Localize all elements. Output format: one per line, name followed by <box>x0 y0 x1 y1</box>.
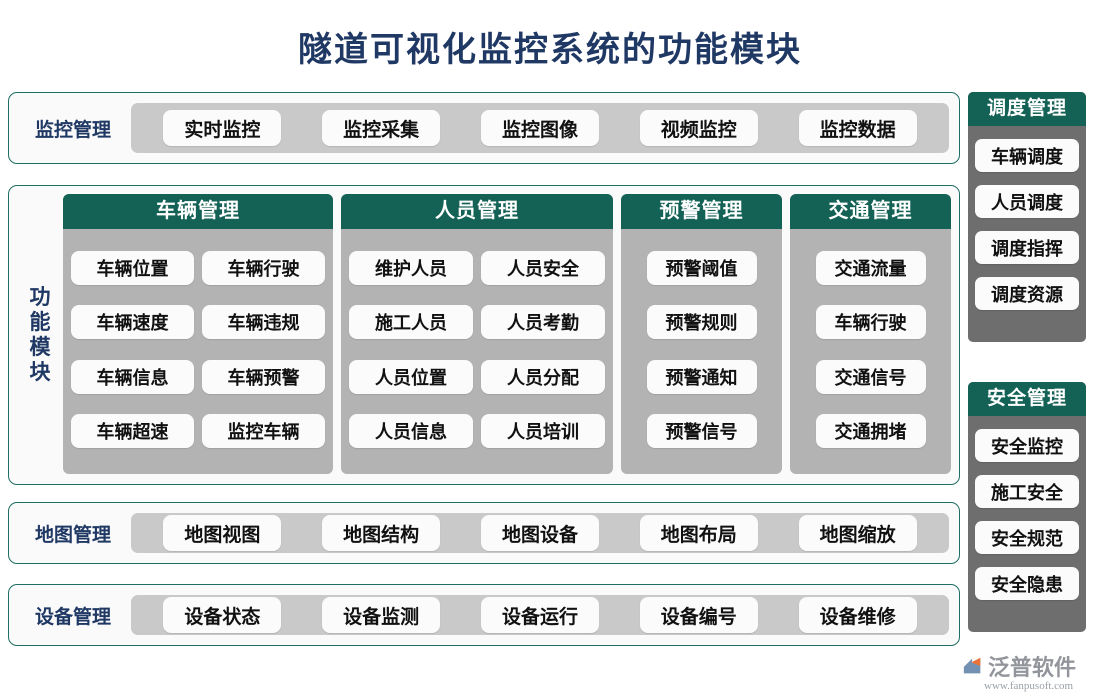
cell-personnel-0-0[interactable]: 维护人员 <box>349 251 473 285</box>
watermark-row: 泛普软件 <box>962 650 1076 682</box>
cell-vehicle-3-0[interactable]: 车辆超速 <box>71 414 194 448</box>
device-item-2[interactable]: 设备运行 <box>481 597 599 633</box>
cell-vehicle-3-1[interactable]: 监控车辆 <box>202 414 325 448</box>
column-body-traffic: 交通流量 车辆行驶 交通信号 交通拥堵 <box>790 229 951 474</box>
column-body-warning: 预警阈值 预警规则 预警通知 预警信号 <box>621 229 782 474</box>
function-module-label: 功 能 模 块 <box>17 186 63 484</box>
cell-traffic-3[interactable]: 交通拥堵 <box>816 414 926 448</box>
monitor-management-label: 监控管理 <box>19 93 127 163</box>
function-module-columns: 车辆管理 车辆位置 车辆行驶 车辆速度 车辆违规 车辆信息 车辆预警 <box>63 194 951 474</box>
cell-row: 车辆信息 车辆预警 <box>71 360 325 394</box>
sidebar-item-safety-2[interactable]: 安全规范 <box>975 521 1079 554</box>
monitor-items-band: 实时监控 监控采集 监控图像 视频监控 监控数据 <box>131 103 949 153</box>
function-module-section: 功 能 模 块 车辆管理 车辆位置 车辆行驶 车辆速度 车辆违规 <box>8 185 960 485</box>
column-header-personnel: 人员管理 <box>341 194 613 229</box>
device-items-band: 设备状态 设备监测 设备运行 设备编号 设备维修 <box>131 595 949 635</box>
monitor-item-4[interactable]: 监控数据 <box>799 110 917 146</box>
cell-warning-3[interactable]: 预警信号 <box>647 414 757 448</box>
sidebar-header-dispatch: 调度管理 <box>968 92 1086 126</box>
cell-row: 车辆速度 车辆违规 <box>71 305 325 339</box>
device-item-4[interactable]: 设备维修 <box>799 597 917 633</box>
cell-vehicle-0-0[interactable]: 车辆位置 <box>71 251 194 285</box>
monitor-item-2[interactable]: 监控图像 <box>481 110 599 146</box>
cell-warning-0[interactable]: 预警阈值 <box>647 251 757 285</box>
device-management-label: 设备管理 <box>19 585 127 645</box>
cell-personnel-2-1[interactable]: 人员分配 <box>481 360 605 394</box>
function-module-label-char-0: 功 <box>30 285 51 310</box>
sidebar-panel-dispatch: 调度管理 车辆调度 人员调度 调度指挥 调度资源 <box>968 92 1086 342</box>
map-item-3[interactable]: 地图布局 <box>640 515 758 551</box>
map-item-0[interactable]: 地图视图 <box>163 515 281 551</box>
cell-row: 维护人员 人员安全 <box>349 251 605 285</box>
cell-vehicle-1-0[interactable]: 车辆速度 <box>71 305 194 339</box>
cell-vehicle-2-0[interactable]: 车辆信息 <box>71 360 194 394</box>
sidebar-panel-safety: 安全管理 安全监控 施工安全 安全规范 安全隐患 <box>968 382 1086 632</box>
device-item-3[interactable]: 设备编号 <box>640 597 758 633</box>
diagram-canvas: 隧道可视化监控系统的功能模块 监控管理 实时监控 监控采集 监控图像 视频监控 … <box>0 0 1100 700</box>
cell-traffic-0[interactable]: 交通流量 <box>816 251 926 285</box>
cell-personnel-3-0[interactable]: 人员信息 <box>349 414 473 448</box>
cell-row: 施工人员 人员考勤 <box>349 305 605 339</box>
sidebar-item-safety-1[interactable]: 施工安全 <box>975 475 1079 508</box>
map-item-4[interactable]: 地图缩放 <box>799 515 917 551</box>
page-title: 隧道可视化监控系统的功能模块 <box>0 22 1100 71</box>
map-item-1[interactable]: 地图结构 <box>322 515 440 551</box>
map-items-band: 地图视图 地图结构 地图设备 地图布局 地图缩放 <box>131 513 949 553</box>
fanpu-logo-icon <box>962 655 984 677</box>
function-module-label-char-3: 块 <box>30 360 51 385</box>
sidebar-item-dispatch-3[interactable]: 调度资源 <box>975 277 1079 310</box>
monitor-management-section: 监控管理 实时监控 监控采集 监控图像 视频监控 监控数据 <box>8 92 960 164</box>
sidebar-header-safety: 安全管理 <box>968 382 1086 416</box>
cell-row: 车辆超速 监控车辆 <box>71 414 325 448</box>
column-header-warning: 预警管理 <box>621 194 782 229</box>
column-warning-management: 预警管理 预警阈值 预警规则 预警通知 预警信号 <box>621 194 782 474</box>
cell-personnel-0-1[interactable]: 人员安全 <box>481 251 605 285</box>
column-personnel-management: 人员管理 维护人员 人员安全 施工人员 人员考勤 人员位置 人员分配 <box>341 194 613 474</box>
cell-vehicle-0-1[interactable]: 车辆行驶 <box>202 251 325 285</box>
sidebar-item-safety-0[interactable]: 安全监控 <box>975 429 1079 462</box>
sidebar-item-dispatch-0[interactable]: 车辆调度 <box>975 139 1079 172</box>
map-management-label: 地图管理 <box>19 503 127 563</box>
sidebar-item-safety-3[interactable]: 安全隐患 <box>975 567 1079 600</box>
watermark: 泛普软件 www.fanpusoft.com <box>962 650 1098 696</box>
cell-personnel-1-0[interactable]: 施工人员 <box>349 305 473 339</box>
cell-personnel-2-0[interactable]: 人员位置 <box>349 360 473 394</box>
device-item-0[interactable]: 设备状态 <box>163 597 281 633</box>
cell-vehicle-1-1[interactable]: 车辆违规 <box>202 305 325 339</box>
column-vehicle-management: 车辆管理 车辆位置 车辆行驶 车辆速度 车辆违规 车辆信息 车辆预警 <box>63 194 333 474</box>
column-header-vehicle: 车辆管理 <box>63 194 333 229</box>
map-item-2[interactable]: 地图设备 <box>481 515 599 551</box>
monitor-item-3[interactable]: 视频监控 <box>640 110 758 146</box>
sidebar-item-dispatch-2[interactable]: 调度指挥 <box>975 231 1079 264</box>
map-management-section: 地图管理 地图视图 地图结构 地图设备 地图布局 地图缩放 <box>8 502 960 564</box>
monitor-item-1[interactable]: 监控采集 <box>322 110 440 146</box>
cell-vehicle-2-1[interactable]: 车辆预警 <box>202 360 325 394</box>
cell-personnel-1-1[interactable]: 人员考勤 <box>481 305 605 339</box>
sidebar-item-dispatch-1[interactable]: 人员调度 <box>975 185 1079 218</box>
cell-traffic-2[interactable]: 交通信号 <box>816 360 926 394</box>
cell-warning-2[interactable]: 预警通知 <box>647 360 757 394</box>
monitor-item-0[interactable]: 实时监控 <box>163 110 281 146</box>
column-body-vehicle: 车辆位置 车辆行驶 车辆速度 车辆违规 车辆信息 车辆预警 车辆超速 监控车辆 <box>63 229 333 474</box>
device-management-section: 设备管理 设备状态 设备监测 设备运行 设备编号 设备维修 <box>8 584 960 646</box>
function-module-label-char-1: 能 <box>30 310 51 335</box>
cell-row: 车辆位置 车辆行驶 <box>71 251 325 285</box>
cell-personnel-3-1[interactable]: 人员培训 <box>481 414 605 448</box>
column-traffic-management: 交通管理 交通流量 车辆行驶 交通信号 交通拥堵 <box>790 194 951 474</box>
cell-warning-1[interactable]: 预警规则 <box>647 305 757 339</box>
device-item-1[interactable]: 设备监测 <box>322 597 440 633</box>
watermark-brand: 泛普软件 <box>988 650 1076 682</box>
cell-traffic-1[interactable]: 车辆行驶 <box>816 305 926 339</box>
function-module-label-char-2: 模 <box>30 335 51 360</box>
cell-row: 人员信息 人员培训 <box>349 414 605 448</box>
cell-row: 人员位置 人员分配 <box>349 360 605 394</box>
column-header-traffic: 交通管理 <box>790 194 951 229</box>
column-body-personnel: 维护人员 人员安全 施工人员 人员考勤 人员位置 人员分配 人员信息 人员培训 <box>341 229 613 474</box>
